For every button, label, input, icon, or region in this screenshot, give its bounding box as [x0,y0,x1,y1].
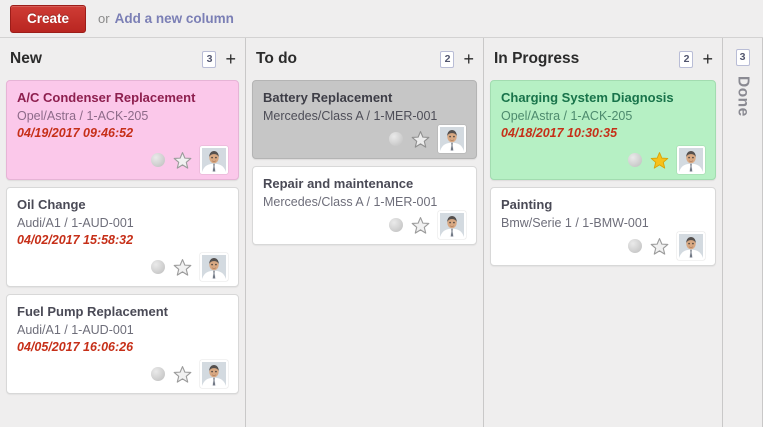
card[interactable]: Repair and maintenance Mercedes/Class A … [252,166,477,245]
card-subtitle: Audi/A1 / 1-AUD-001 [17,215,228,231]
add-card-icon-new[interactable]: + [225,52,236,66]
column-header-in-progress: In Progress 2 + [484,38,722,80]
star-outline-icon[interactable] [173,151,192,170]
status-dot-icon[interactable] [389,218,403,232]
avatar[interactable] [438,125,466,153]
status-dot-icon[interactable] [151,153,165,167]
card-subtitle: Audi/A1 / 1-AUD-001 [17,322,228,338]
card-subtitle: Mercedes/Class A / 1-MER-001 [263,108,466,124]
kanban-board: New 3 + A/C Condenser Replacement Opel/A… [0,38,763,427]
card[interactable]: A/C Condenser Replacement Opel/Astra / 1… [6,80,239,180]
status-dot-icon[interactable] [628,239,642,253]
star-outline-icon[interactable] [173,258,192,277]
card[interactable]: Fuel Pump Replacement Audi/A1 / 1-AUD-00… [6,294,239,394]
card-subtitle: Opel/Astra / 1-ACK-205 [17,108,228,124]
avatar[interactable] [200,146,228,174]
card-footer [263,126,466,152]
avatar[interactable] [200,253,228,281]
column-count-done: 3 [736,49,750,66]
add-card-icon-in-progress[interactable]: + [702,52,713,66]
avatar[interactable] [677,146,705,174]
card-footer [501,147,705,173]
star-outline-icon[interactable] [650,237,669,256]
card-footer [17,254,228,280]
card-footer [17,361,228,387]
star-filled-icon[interactable] [650,151,669,170]
column-to-do: To do 2 + Battery Replacement Mercedes/C… [246,38,484,427]
create-button[interactable]: Create [10,5,86,33]
top-toolbar: Create or Add a new column [0,0,763,38]
column-body-to-do: Battery Replacement Mercedes/Class A / 1… [246,80,483,427]
column-count-to-do: 2 [440,51,454,68]
avatar[interactable] [677,232,705,260]
card-title: Battery Replacement [263,90,466,106]
column-header-new: New 3 + [0,38,245,80]
column-body-new: A/C Condenser Replacement Opel/Astra / 1… [0,80,245,427]
status-dot-icon[interactable] [151,367,165,381]
card[interactable]: Painting Bmw/Serie 1 / 1-BMW-001 [490,187,716,266]
card-title: A/C Condenser Replacement [17,90,228,106]
column-title-new: New [10,50,202,68]
star-outline-icon[interactable] [411,216,430,235]
card-footer [17,147,228,173]
column-count-new: 3 [202,51,216,68]
star-outline-icon[interactable] [173,365,192,384]
column-title-done: Done [734,76,752,117]
card-title: Repair and maintenance [263,176,466,192]
column-new: New 3 + A/C Condenser Replacement Opel/A… [0,38,246,427]
column-in-progress: In Progress 2 + Charging System Diagnosi… [484,38,723,427]
status-dot-icon[interactable] [389,132,403,146]
card-subtitle: Opel/Astra / 1-ACK-205 [501,108,705,124]
card[interactable]: Oil Change Audi/A1 / 1-AUD-001 04/02/201… [6,187,239,287]
card-date: 04/19/2017 09:46:52 [17,125,228,141]
card-footer [501,233,705,259]
column-title-to-do: To do [256,50,440,68]
card[interactable]: Battery Replacement Mercedes/Class A / 1… [252,80,477,159]
card-title: Painting [501,197,705,213]
card-date: 04/02/2017 15:58:32 [17,232,228,248]
card-subtitle: Mercedes/Class A / 1-MER-001 [263,194,466,210]
card-date: 04/18/2017 10:30:35 [501,125,705,141]
column-count-in-progress: 2 [679,51,693,68]
avatar[interactable] [200,360,228,388]
avatar[interactable] [438,211,466,239]
card-title: Fuel Pump Replacement [17,304,228,320]
column-done-collapsed[interactable]: 3 Done [723,38,763,427]
status-dot-icon[interactable] [628,153,642,167]
or-label: or [98,11,110,26]
card-title: Charging System Diagnosis [501,90,705,106]
star-outline-icon[interactable] [411,130,430,149]
card-date: 04/05/2017 16:06:26 [17,339,228,355]
card-subtitle: Bmw/Serie 1 / 1-BMW-001 [501,215,705,231]
add-card-icon-to-do[interactable]: + [463,52,474,66]
card-title: Oil Change [17,197,228,213]
column-title-in-progress: In Progress [494,50,679,68]
status-dot-icon[interactable] [151,260,165,274]
column-body-in-progress: Charging System Diagnosis Opel/Astra / 1… [484,80,722,427]
card[interactable]: Charging System Diagnosis Opel/Astra / 1… [490,80,716,180]
column-header-to-do: To do 2 + [246,38,483,80]
add-a-new-column-link[interactable]: Add a new column [115,11,234,26]
card-footer [263,212,466,238]
